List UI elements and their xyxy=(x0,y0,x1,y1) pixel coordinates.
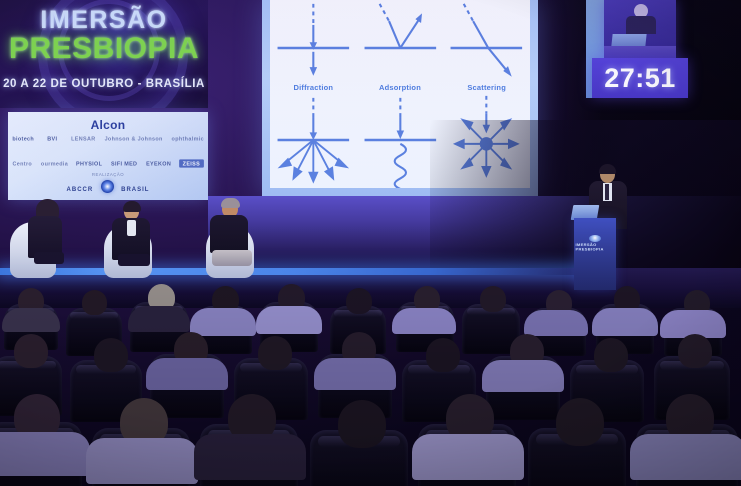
timer-value: 27:51 xyxy=(604,63,676,94)
audience-area xyxy=(0,282,741,486)
sponsor-main-title: Alcon xyxy=(8,118,208,132)
conference-hall-photo: IMERSÃO PRESBIOPIA 20 A 22 DE OUTUBRO - … xyxy=(0,0,741,486)
sponsor-footer-org-right: BRASIL xyxy=(121,187,149,193)
feed-speaker-figure xyxy=(626,4,656,32)
audience-shoulders xyxy=(86,438,198,484)
audience-head xyxy=(594,338,628,372)
sponsor-logo: BVI xyxy=(48,136,58,142)
audience-head xyxy=(82,290,107,315)
audience-shoulders xyxy=(412,434,524,480)
sponsor-logo-row-1: biotech BVI LENSAR Johnson & Johnson oph… xyxy=(14,136,202,141)
audience-shoulders xyxy=(482,360,564,392)
sponsor-wall: Alcon biotech BVI LENSAR Johnson & Johns… xyxy=(8,112,208,200)
banner-title-line2: PRESBIOPIA xyxy=(0,32,208,66)
panelist-legs xyxy=(118,254,150,266)
banner-dates: 20 A 22 DE OUTUBRO - BRASÍLIA xyxy=(0,78,208,90)
audience-head xyxy=(346,288,372,314)
speaker-podium: IMERSÃO PRESBIOPIA xyxy=(574,218,616,290)
audience-head xyxy=(14,334,48,368)
speaker-tie xyxy=(605,184,609,200)
audience-head xyxy=(94,338,128,372)
sponsor-logo: PHYSIOL xyxy=(76,161,102,167)
slide-panel-adsorption-top: Adsorption xyxy=(357,0,444,94)
sponsor-logo: Johnson & Johnson xyxy=(105,136,163,142)
audience-head xyxy=(338,400,386,448)
sponsor-footer-caption: REALIZAÇÃO xyxy=(0,173,228,178)
speaker-hair xyxy=(599,164,616,174)
sponsor-footer: REALIZAÇÃO ABCCR BRASIL xyxy=(8,173,208,196)
audience-head xyxy=(678,334,712,368)
audience-head xyxy=(258,336,292,370)
audience-shoulders xyxy=(256,306,322,334)
slide-panel-diffraction-bottom xyxy=(270,94,357,188)
panelist-legs xyxy=(34,252,64,264)
panel-label-adsorption: Adsorption xyxy=(357,83,444,92)
stage-led-strip xyxy=(0,268,600,275)
sponsor-logo: LENSAR xyxy=(71,136,95,142)
audience-shoulders xyxy=(190,308,256,336)
podium-brand-text: IMERSÃO PRESBIOPIA xyxy=(575,242,614,251)
sponsor-logo: ZEISS xyxy=(179,159,204,167)
audience-shoulders xyxy=(524,310,588,336)
slide-panel-scattering-top: Scattering xyxy=(443,0,530,94)
sponsor-logo: Centro xyxy=(13,161,33,167)
audience-shoulders xyxy=(0,432,90,476)
banner-title-line1: IMERSÃO xyxy=(0,6,208,35)
sponsor-logo: ourmedia xyxy=(41,161,68,167)
panelist-shirt xyxy=(127,220,136,236)
sponsor-logo-row-2: Centro ourmedia PHYSIOL SIFI MED EYEKON … xyxy=(14,160,202,167)
diffraction-diagram-icon xyxy=(270,0,357,94)
feed-laptop-icon xyxy=(611,34,646,46)
audience-shoulders xyxy=(146,358,228,390)
adsorption-diagram-icon xyxy=(357,0,444,94)
sponsor-logo: biotech xyxy=(12,136,34,142)
panel-label-scattering: Scattering xyxy=(443,83,530,92)
panelist-legs xyxy=(212,250,252,266)
audience-shoulders xyxy=(392,308,456,334)
audience-shoulders xyxy=(314,358,396,390)
panelist-hair xyxy=(123,201,141,212)
audience-shoulders xyxy=(194,434,306,480)
sponsor-logo: SIFI MED xyxy=(111,161,137,167)
panelist-hair xyxy=(221,198,240,208)
slide-panel-diffraction-top: Diffraction xyxy=(270,0,357,94)
feed-speaker-body xyxy=(626,16,656,34)
audience-head xyxy=(480,286,506,312)
podium-logo: IMERSÃO PRESBIOPIA xyxy=(578,232,612,254)
diffraction-fanout-icon xyxy=(270,94,357,188)
panelist-torso xyxy=(210,215,248,253)
audience-shoulders xyxy=(128,306,190,332)
sponsor-footer-org-left: ABCCR xyxy=(67,187,94,193)
audience-head xyxy=(556,398,604,446)
feed-podium-surface xyxy=(604,46,676,58)
audience-shoulders xyxy=(630,434,741,480)
audience-shoulders xyxy=(592,308,658,336)
live-video-feed xyxy=(604,0,676,58)
scattering-diagram-icon xyxy=(443,0,530,94)
sponsor-logo: ophthalmic xyxy=(172,136,204,142)
podium-eye-icon xyxy=(589,235,601,242)
audience-head xyxy=(426,338,460,372)
sponsor-logo: EYEKON xyxy=(146,161,171,167)
event-banner: IMERSÃO PRESBIOPIA 20 A 22 DE OUTUBRO - … xyxy=(0,0,208,108)
audience-shoulders xyxy=(2,308,60,332)
eye-logo-icon xyxy=(101,180,114,193)
countdown-timer: 27:51 xyxy=(592,58,688,98)
panel-label-diffraction: Diffraction xyxy=(270,83,357,92)
